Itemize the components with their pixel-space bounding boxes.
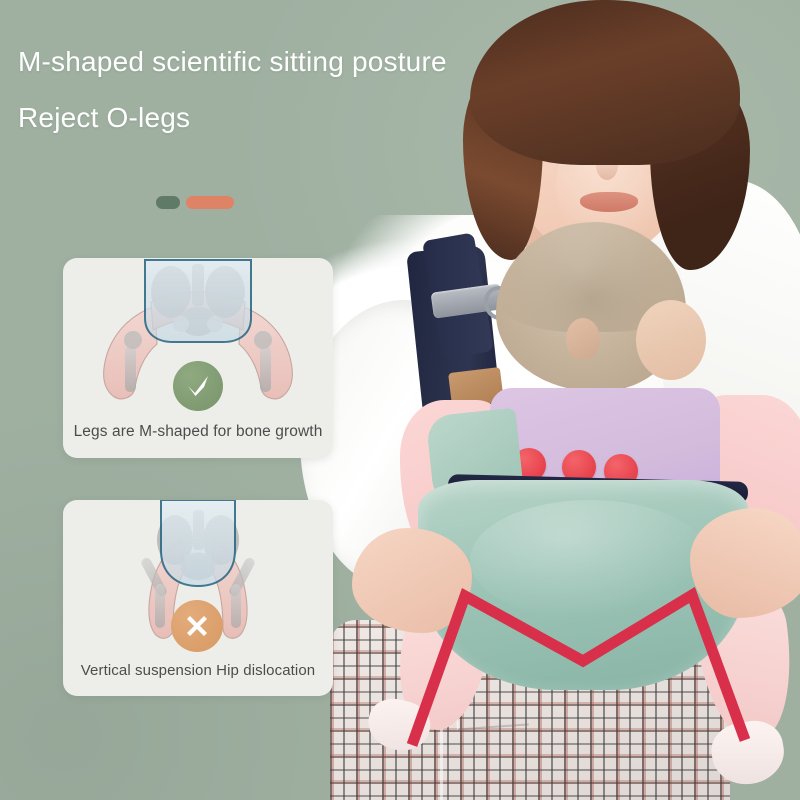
- headline-line-1: M-shaped scientific sitting posture: [18, 46, 447, 77]
- card-illustration-m-shape: [63, 258, 333, 406]
- decorative-pill-row: [156, 196, 234, 209]
- headline-line-2: Reject O-legs: [18, 104, 488, 132]
- check-icon: [173, 361, 223, 411]
- card-caption-incorrect: Vertical suspension Hip dislocation: [63, 644, 333, 696]
- x-glyph: [183, 612, 211, 640]
- pill-dot-indicator: [156, 196, 180, 209]
- check-glyph: [183, 371, 213, 401]
- page-title: M-shaped scientific sitting posture Reje…: [18, 48, 488, 132]
- product-promo-image: M-shaped scientific sitting posture Reje…: [0, 0, 800, 800]
- pill-bar-indicator: [186, 196, 234, 209]
- card-caption-correct: Legs are M-shaped for bone growth: [63, 406, 333, 458]
- info-card-incorrect-posture[interactable]: Vertical suspension Hip dislocation: [63, 500, 333, 696]
- card-illustration-vertical: [63, 500, 333, 646]
- info-card-correct-posture[interactable]: Legs are M-shaped for bone growth: [63, 258, 333, 458]
